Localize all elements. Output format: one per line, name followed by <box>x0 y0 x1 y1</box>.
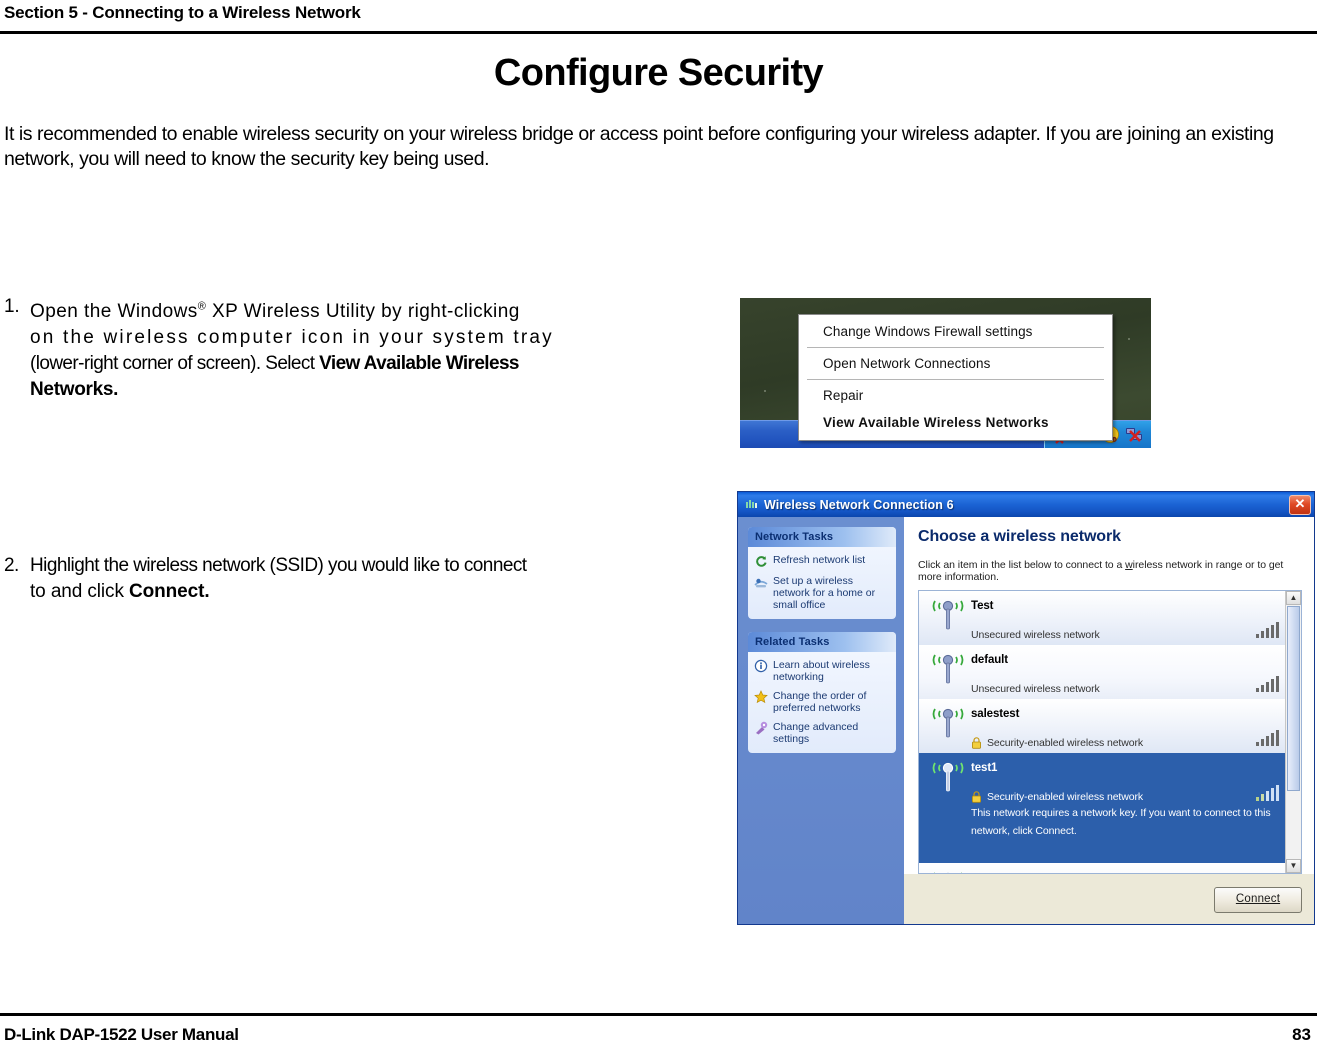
network-list-item[interactable]: salestest Security-enabled wireless net <box>919 699 1301 753</box>
access-point-icon <box>925 649 971 687</box>
step-2-line-2: to and click Connect. <box>30 579 694 605</box>
intro-paragraph: It is recommended to enable wireless sec… <box>4 122 1313 172</box>
sidebar-item-label: Refresh network list <box>773 554 865 566</box>
network-ssid: test1 <box>971 762 997 774</box>
refresh-icon <box>754 554 768 568</box>
footer-divider <box>0 1013 1317 1016</box>
network-info: salestest Security-enabled wireless net <box>971 703 1273 749</box>
network-security-label: Unsecured wireless network <box>971 683 1273 695</box>
connect-label-rest: onnect <box>1244 893 1280 905</box>
registered-mark: ® <box>198 301 207 313</box>
access-point-icon <box>925 595 971 633</box>
sidebar-item-label: Set up a wireless network for a home or … <box>773 575 891 611</box>
step-2-line-1: Highlight the wireless network (SSID) yo… <box>30 555 527 576</box>
page-title: Configure Security <box>0 52 1317 95</box>
network-list-rows: Test Unsecured wireless network <box>919 591 1301 873</box>
step-1: 1. Open the Windows® XP Wireless Utility… <box>4 294 694 403</box>
step-2: 2. Highlight the wireless network (SSID)… <box>4 553 694 605</box>
step-1-line-3: (lower-right corner of screen). Select V… <box>30 351 694 377</box>
signal-strength-indicator <box>1256 622 1280 638</box>
dialog-sidebar: Network Tasks Refresh network list <box>738 517 904 924</box>
footer-page-number: 83 <box>1292 1025 1311 1045</box>
star-icon <box>754 690 768 704</box>
sidebar-item-refresh-network-list[interactable]: Refresh network list <box>748 547 896 568</box>
network-list-item-selected[interactable]: test1 Security-enabled wireless network <box>919 753 1301 863</box>
connect-button[interactable]: Connect <box>1214 887 1302 913</box>
figure-wireless-network-dialog: Wireless Network Connection 6 ✕ Network … <box>737 491 1315 925</box>
menu-separator <box>807 347 1104 348</box>
network-info: Test Unsecured wireless network <box>971 595 1273 641</box>
lock-icon <box>971 791 982 803</box>
step-1-number: 1. <box>4 294 30 320</box>
dialog-title: Wireless Network Connection 6 <box>764 498 1289 512</box>
network-ssid: Test <box>971 600 993 612</box>
setup-wizard-icon <box>754 575 768 589</box>
network-tasks-title: Network Tasks <box>748 527 896 547</box>
dialog-body: Network Tasks Refresh network list <box>738 517 1314 924</box>
network-ssid: salestest <box>971 708 1019 720</box>
access-point-icon <box>925 867 971 873</box>
dialog-titlebar: Wireless Network Connection 6 ✕ <box>738 492 1314 517</box>
dialog-footer: Connect <box>904 874 1314 924</box>
menu-item-repair[interactable]: Repair <box>799 382 1112 409</box>
menu-item-change-firewall-settings[interactable]: Change Windows Firewall settings <box>799 318 1112 345</box>
sidebar-item-setup-wireless-network[interactable]: Set up a wireless network for a home or … <box>748 568 896 611</box>
network-tasks-panel: Network Tasks Refresh network list <box>748 527 896 619</box>
sidebar-item-change-order-of-preferred-networks[interactable]: Change the order of preferred networks <box>748 683 896 714</box>
page-section-header: Section 5 - Connecting to a Wireless Net… <box>4 3 1313 23</box>
manual-page: Section 5 - Connecting to a Wireless Net… <box>0 0 1317 1049</box>
menu-item-open-network-connections[interactable]: Open Network Connections <box>799 350 1112 377</box>
sidebar-item-learn-about-wireless-networking[interactable]: Learn about wireless networking <box>748 652 896 683</box>
info-icon <box>754 659 768 673</box>
wrench-icon <box>754 721 768 735</box>
menu-separator <box>807 379 1104 380</box>
network-list-scrollbar[interactable]: ▲ ▼ <box>1285 591 1301 873</box>
wireless-connection-icon[interactable] <box>1125 425 1144 444</box>
access-point-icon <box>925 703 971 741</box>
sidebar-item-label: Change advanced settings <box>773 721 891 745</box>
network-info: test1 Security-enabled wireless network <box>971 757 1273 859</box>
network-info: default Unsecured wireless network <box>971 649 1273 695</box>
menu-item-view-available-wireless-networks[interactable]: View Available Wireless Networks <box>799 409 1112 436</box>
step-2-number: 2. <box>4 553 30 579</box>
network-ssid: default <box>971 654 1008 666</box>
step-2-body: Highlight the wireless network (SSID) yo… <box>30 553 694 605</box>
wireless-signal-icon <box>744 497 759 512</box>
step-1-line-1: Open the Windows® XP Wireless Utility by… <box>30 301 520 322</box>
signal-strength-indicator <box>1256 676 1280 692</box>
scroll-up-icon[interactable]: ▲ <box>1286 591 1301 605</box>
header-divider <box>0 31 1317 34</box>
related-tasks-panel: Related Tasks Learn about wireless netwo… <box>748 632 896 753</box>
network-list[interactable]: Test Unsecured wireless network <box>918 590 1302 874</box>
signal-strength-indicator <box>1256 785 1280 801</box>
step-1-line-2: on the wireless computer icon in your sy… <box>30 325 694 351</box>
signal-strength-indicator <box>1256 730 1280 746</box>
network-connect-note: This network requires a network key. If … <box>971 807 1271 837</box>
network-list-item[interactable]: Test Unsecured wireless network <box>919 591 1301 645</box>
choose-network-instruction: Click an item in the list below to conne… <box>918 559 1302 583</box>
close-icon[interactable]: ✕ <box>1289 495 1311 515</box>
scrollbar-thumb[interactable] <box>1287 606 1300 791</box>
sidebar-item-label: Change the order of preferred networks <box>773 690 891 714</box>
lock-icon <box>971 737 982 749</box>
context-menu[interactable]: Change Windows Firewall settings Open Ne… <box>798 314 1113 441</box>
choose-network-heading: Choose a wireless network <box>918 528 1302 546</box>
related-tasks-title: Related Tasks <box>748 632 896 652</box>
scroll-down-icon[interactable]: ▼ <box>1286 859 1301 873</box>
sidebar-item-label: Learn about wireless networking <box>773 659 891 683</box>
step-2-emphasis: Connect. <box>129 581 209 602</box>
network-security-label: Unsecured wireless network <box>971 629 1273 641</box>
network-list-item[interactable]: default Unsecured wireless network <box>919 645 1301 699</box>
step-1-emphasis-1: View Available Wireless <box>319 353 519 374</box>
step-1-line-4: Networks. <box>30 377 694 403</box>
figure-tray-context-menu: Change Windows Firewall settings Open Ne… <box>740 298 1151 448</box>
access-point-icon <box>925 757 971 795</box>
network-security-label: Security-enabled wireless network <box>971 791 1273 803</box>
network-list-item[interactable] <box>919 863 1301 873</box>
footer-manual-name: D-Link DAP-1522 User Manual <box>4 1025 239 1045</box>
step-1-body: Open the Windows® XP Wireless Utility by… <box>30 294 694 403</box>
dialog-main-pane: Choose a wireless network Click an item … <box>904 517 1314 924</box>
sidebar-item-change-advanced-settings[interactable]: Change advanced settings <box>748 714 896 745</box>
network-security-label: Security-enabled wireless network <box>971 737 1273 749</box>
